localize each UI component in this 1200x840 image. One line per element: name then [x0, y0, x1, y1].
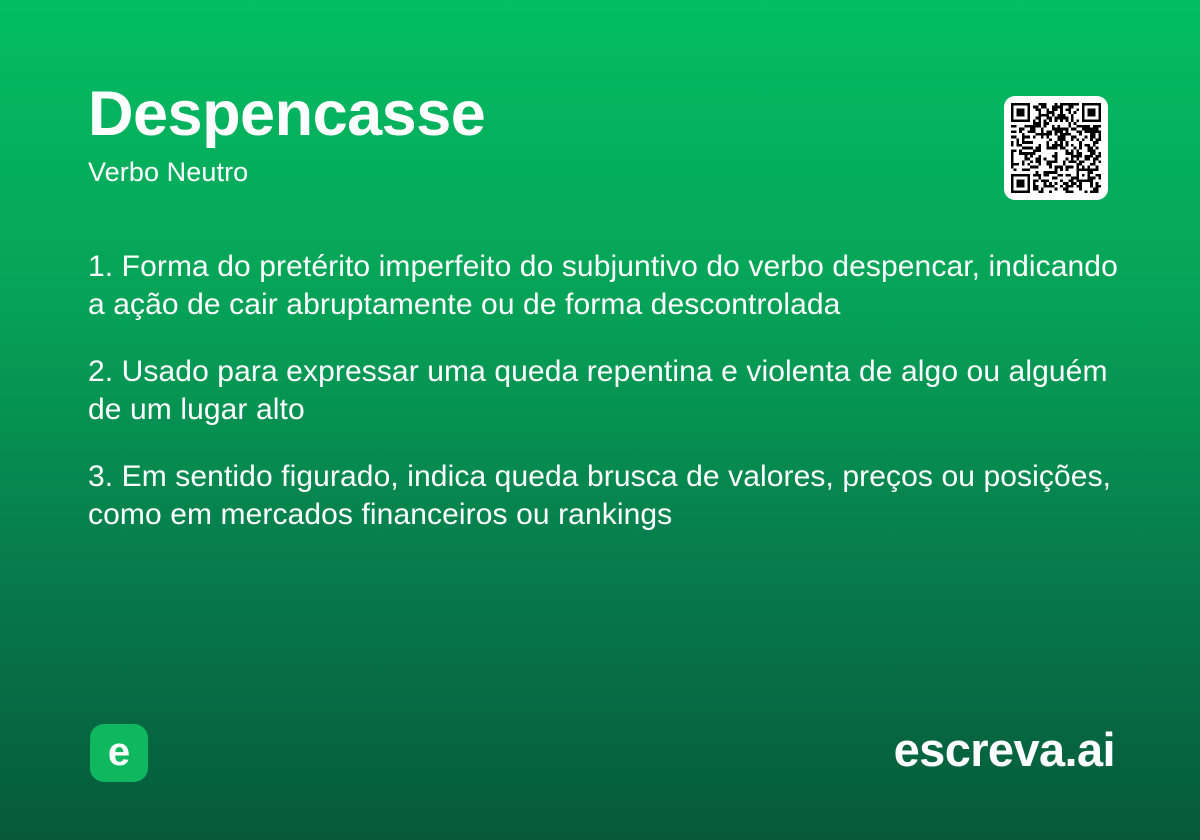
definition-item: 3. Em sentido figurado, indica queda bru…	[88, 458, 1118, 535]
page-title: Despencasse	[88, 82, 1112, 146]
qr-code-icon	[1011, 103, 1101, 193]
definition-list: 1. Forma do pretérito imperfeito do subj…	[88, 248, 1118, 534]
word-definition-card: Despencasse Verbo Neutro 1. Forma do pre…	[0, 0, 1200, 840]
qr-code-card[interactable]	[1004, 96, 1108, 200]
brand-wordmark: escreva.ai	[894, 722, 1115, 778]
brand-logo-badge: e	[90, 724, 148, 782]
brand-logo-letter: e	[108, 732, 130, 772]
word-class-label: Verbo Neutro	[88, 158, 1112, 188]
card-header: Despencasse Verbo Neutro	[88, 82, 1112, 188]
definition-item: 1. Forma do pretérito imperfeito do subj…	[88, 248, 1118, 325]
definition-item: 2. Usado para expressar uma queda repent…	[88, 353, 1118, 430]
